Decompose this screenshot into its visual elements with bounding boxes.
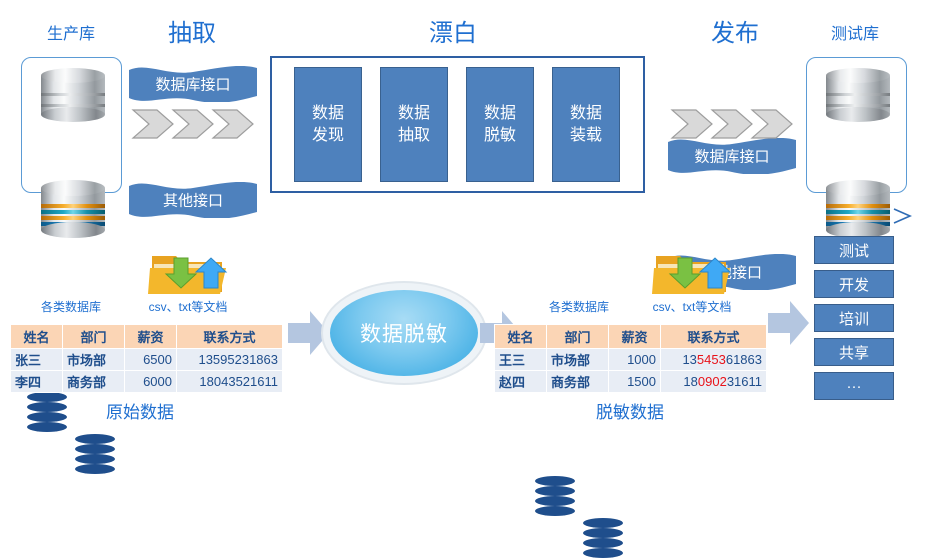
target-button-sharing[interactable]: 共享 <box>814 338 894 366</box>
block-arrow-icon-left <box>288 310 330 356</box>
cell-name: 赵四 <box>495 371 547 393</box>
publish-top-ribbon: 数据库接口 <box>668 138 796 174</box>
folder-transfer-icon-source <box>148 248 228 296</box>
masked-db-caption: 各类数据库 <box>524 298 634 315</box>
stage-data-extraction-line2: 抽取 <box>398 125 430 147</box>
stage-data-extraction[interactable]: 数据 抽取 <box>380 67 448 182</box>
cell-salary: 6500 <box>125 349 177 371</box>
extract-top-ribbon: 数据库接口 <box>129 66 257 102</box>
production-db-box <box>21 57 122 193</box>
header-salary: 薪资 <box>125 325 177 349</box>
table-header-row: 姓名 部门 薪资 联系方式 <box>11 325 283 349</box>
header-name: 姓名 <box>11 325 63 349</box>
database-icon <box>826 68 890 122</box>
target-button-development[interactable]: 开发 <box>814 270 894 298</box>
cell-dept: 商务部 <box>63 371 125 393</box>
header-salary: 薪资 <box>609 325 661 349</box>
table-row: 王三 市场部 1000 13545361863 <box>495 349 767 371</box>
header-contact: 联系方式 <box>661 325 767 349</box>
phone-part: 18 <box>683 374 697 389</box>
header-dept: 部门 <box>547 325 609 349</box>
masking-process-label: 数据脱敏 <box>360 318 448 348</box>
cell-salary: 1000 <box>609 349 661 371</box>
masked-footer-label: 脱敏数据 <box>530 398 730 423</box>
stage-data-loading-line2: 装载 <box>570 125 602 147</box>
title-extract: 抽取 <box>137 20 247 48</box>
cell-phone: 13545361863 <box>661 349 767 371</box>
cell-name: 李四 <box>11 371 63 393</box>
chevron-strip-icon-publish <box>670 108 794 140</box>
stage-data-discovery-line2: 发现 <box>312 125 344 147</box>
source-file-caption: csv、txt等文档 <box>133 298 243 315</box>
header-name: 姓名 <box>495 325 547 349</box>
test-db-box <box>806 57 907 193</box>
target-button-training-label: 培训 <box>839 308 869 329</box>
cell-phone: 18043521611 <box>177 371 283 393</box>
title-publish: 发布 <box>680 20 790 48</box>
masked-data-table: 姓名 部门 薪资 联系方式 王三 市场部 1000 13545361863 赵四… <box>494 324 767 393</box>
phone-part: 61863 <box>726 352 762 367</box>
phone-part-masked: 0902 <box>698 374 727 389</box>
database-icon-masked-2 <box>583 518 623 560</box>
folder-transfer-icon-masked <box>652 248 732 296</box>
stage-data-loading-line1: 数据 <box>570 103 602 125</box>
block-arrow-icon-targets <box>768 300 810 346</box>
phone-part: 31611 <box>727 374 762 389</box>
table-row: 李四 商务部 6000 18043521611 <box>11 371 283 393</box>
cell-dept: 市场部 <box>63 349 125 371</box>
table-header-row: 姓名 部门 薪资 联系方式 <box>495 325 767 349</box>
stage-data-masking-line2: 脱敏 <box>484 125 516 147</box>
target-button-development-label: 开发 <box>839 274 869 295</box>
title-production-db: 生产库 <box>16 25 126 45</box>
source-footer-label: 原始数据 <box>40 398 240 423</box>
timeline-arrow-icon <box>16 205 916 227</box>
source-data-table: 姓名 部门 薪资 联系方式 张三 市场部 6500 13595231863 李四… <box>10 324 283 393</box>
target-button-test-label: 测试 <box>839 240 869 261</box>
stage-data-masking-line1: 数据 <box>484 103 516 125</box>
phone-part-masked: 5453 <box>697 352 726 367</box>
target-button-test[interactable]: 测试 <box>814 236 894 264</box>
target-button-training[interactable]: 培训 <box>814 304 894 332</box>
masking-process-ellipse[interactable]: 数据脱敏 <box>330 290 478 376</box>
stage-data-discovery-line1: 数据 <box>312 103 344 125</box>
extract-top-ribbon-label: 数据库接口 <box>129 74 257 95</box>
cell-dept: 市场部 <box>547 349 609 371</box>
database-icon <box>41 68 105 122</box>
cell-phone: 18090231611 <box>661 371 767 393</box>
header-dept: 部门 <box>63 325 125 349</box>
stage-data-loading[interactable]: 数据 装载 <box>552 67 620 182</box>
table-row: 赵四 商务部 1500 18090231611 <box>495 371 767 393</box>
header-contact: 联系方式 <box>177 325 283 349</box>
title-test-db: 测试库 <box>800 25 910 45</box>
source-db-caption: 各类数据库 <box>16 298 126 315</box>
cell-phone: 13595231863 <box>177 349 283 371</box>
cell-dept: 商务部 <box>547 371 609 393</box>
target-button-more[interactable]: ··· <box>814 372 894 400</box>
masked-file-caption: csv、txt等文档 <box>637 298 747 315</box>
table-row: 张三 市场部 6500 13595231863 <box>11 349 283 371</box>
stage-data-masking[interactable]: 数据 脱敏 <box>466 67 534 182</box>
stage-data-extraction-line1: 数据 <box>398 103 430 125</box>
target-button-more-label: ··· <box>847 378 862 395</box>
title-bleach: 漂白 <box>398 20 508 48</box>
target-button-sharing-label: 共享 <box>839 342 869 363</box>
cell-salary: 6000 <box>125 371 177 393</box>
publish-top-ribbon-label: 数据库接口 <box>668 146 796 167</box>
chevron-strip-icon <box>131 108 255 140</box>
stage-data-discovery[interactable]: 数据 发现 <box>294 67 362 182</box>
phone-part: 13 <box>682 352 696 367</box>
database-icon-masked-1 <box>535 476 575 518</box>
cell-salary: 1500 <box>609 371 661 393</box>
database-icon-source-2 <box>75 434 115 476</box>
cell-name: 张三 <box>11 349 63 371</box>
cell-name: 王三 <box>495 349 547 371</box>
